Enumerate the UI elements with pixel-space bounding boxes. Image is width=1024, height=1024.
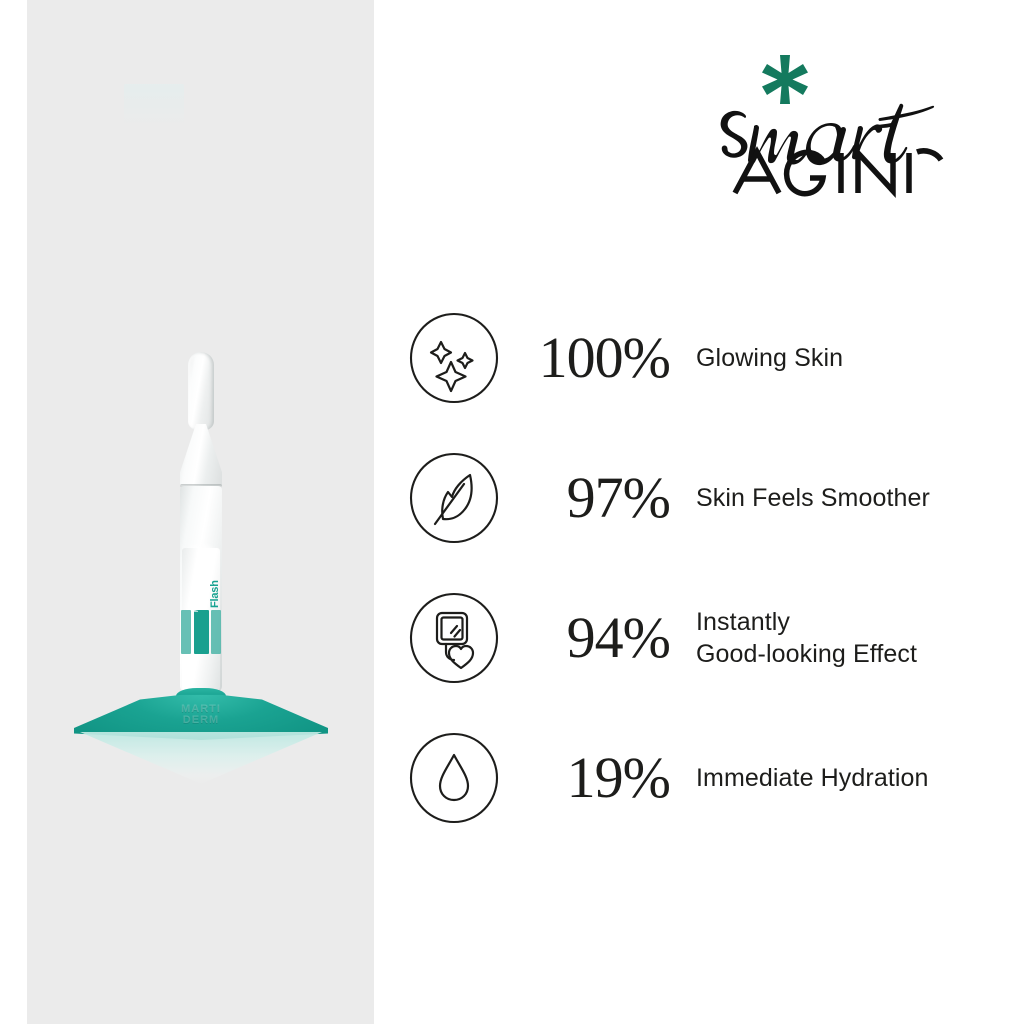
benefit-row: 94% Instantly Good-looking Effect [408, 592, 1024, 684]
label-band-center [194, 610, 209, 654]
label-band-right [211, 610, 221, 654]
label-band-left [181, 610, 191, 654]
benefit-label: Skin Feels Smoother [696, 482, 1024, 514]
saucer-underside [80, 732, 322, 786]
leaf-feather-icon [408, 452, 500, 544]
benefit-percent: 100% [500, 329, 696, 387]
ampoule-tip [188, 352, 214, 430]
label-product-line-text: Flash [209, 580, 221, 608]
water-drop-icon [408, 732, 500, 824]
label-brand-text: MartiDerm [194, 572, 209, 612]
sparkle-icon [408, 312, 500, 404]
benefit-label: Immediate Hydration [696, 762, 1024, 794]
ampoule-neck [180, 424, 222, 486]
mirror-heart-icon [408, 592, 500, 684]
saucer-emboss-line-2: DERM [181, 715, 221, 726]
product-reflection [124, 84, 184, 126]
product-base-saucer: MARTI DERM [74, 694, 328, 746]
product-photo-panel: MartiDerm Flash MARTI DERM [27, 0, 374, 1024]
benefit-percent: 19% [500, 749, 696, 807]
benefit-percent: 97% [500, 469, 696, 527]
benefit-row: 19% Immediate Hydration [408, 732, 1024, 824]
benefit-percent: 94% [500, 609, 696, 667]
asterisk-icon [762, 55, 808, 104]
benefit-label: Glowing Skin [696, 342, 1024, 374]
benefit-label: Instantly Good-looking Effect [696, 606, 1024, 670]
benefit-row: 100% Glowing Skin [408, 312, 1024, 404]
benefit-row: 97% Skin Feels Smoother [408, 452, 1024, 544]
product-image: MartiDerm Flash MARTI DERM [27, 0, 374, 1024]
ampoule-label: MartiDerm Flash [180, 588, 222, 654]
smart-aging-logo [704, 48, 944, 208]
saucer-emboss-text: MARTI DERM [181, 704, 221, 726]
content-column: 100% Glowing Skin 97% Skin Feels Smoothe… [374, 0, 1024, 1024]
ampoule-vial: MartiDerm Flash [170, 352, 232, 712]
